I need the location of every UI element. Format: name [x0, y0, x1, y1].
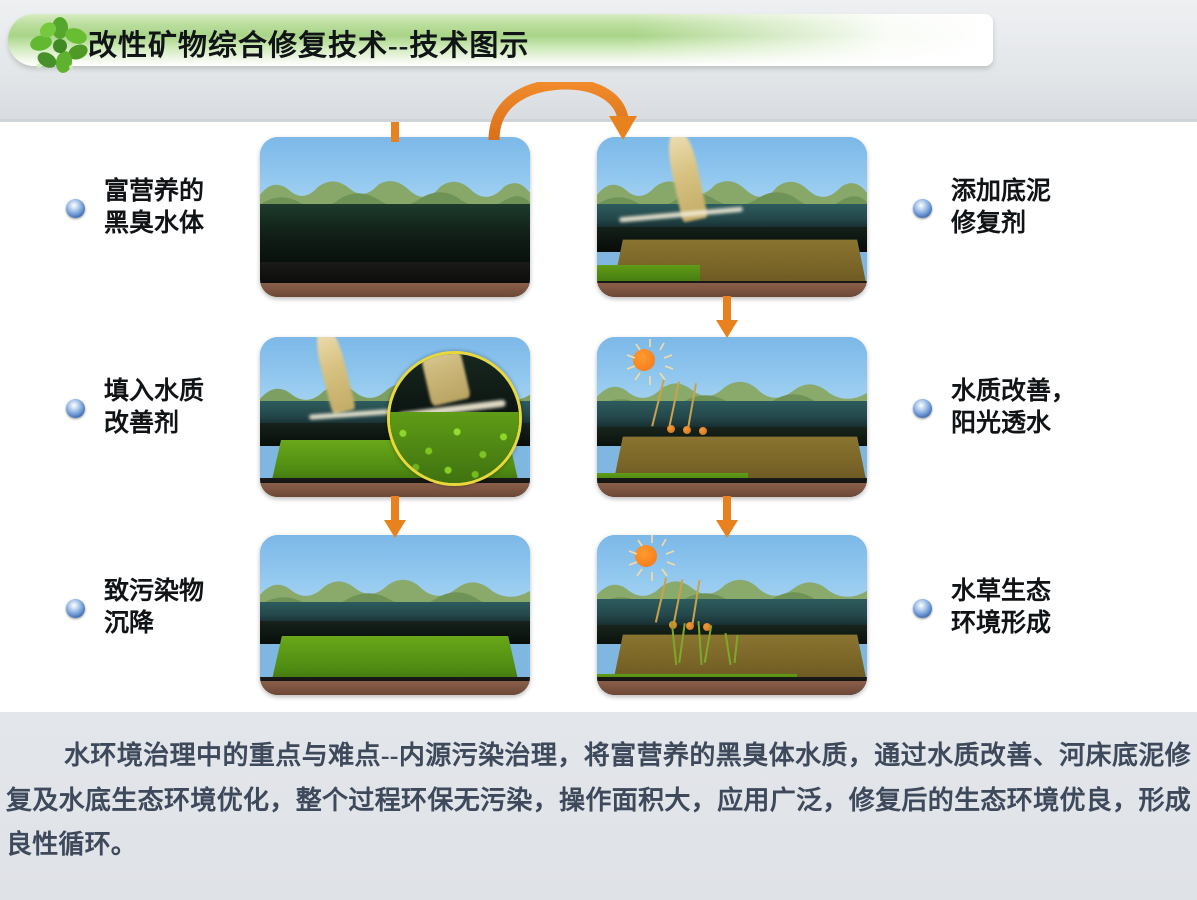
- blue-sphere-bullet-icon: [913, 199, 932, 218]
- sun-rays-icon: [621, 337, 679, 389]
- title-banner-fade: [633, 14, 993, 66]
- arrow-down-icon: [716, 496, 738, 538]
- blue-sphere-bullet-icon: [913, 399, 932, 418]
- dark-water-body: [260, 204, 530, 268]
- clear-water-surface: [597, 599, 867, 628]
- left-label-group-3: 致污染物 沉降: [66, 576, 204, 640]
- blue-sphere-bullet-icon: [66, 199, 85, 218]
- left-label-3-text: 致污染物 沉降: [104, 576, 204, 640]
- arrow-down-icon: [384, 496, 406, 538]
- sun-rays-icon: [623, 535, 681, 585]
- left-label-1-text: 富营养的 黑臭水体: [104, 176, 204, 240]
- clover-leaf-icon: [26, 16, 96, 78]
- curved-arrow-right-icon: [480, 82, 650, 142]
- magnified-granules: [390, 412, 519, 483]
- panel-5-pollutant-settling[interactable]: [260, 535, 530, 695]
- magnifier-circle-icon: [387, 351, 522, 486]
- panel-4-clear-water-sunlight[interactable]: [597, 337, 867, 497]
- arrow-down-icon: [716, 296, 738, 338]
- panel-6-aquatic-ecosystem[interactable]: [597, 535, 867, 695]
- beam-endpoint-icon: [699, 427, 707, 435]
- left-label-group-1: 富营养的 黑臭水体: [66, 176, 204, 240]
- soil-strip: [597, 681, 867, 695]
- panel-2-add-sediment-agent[interactable]: [597, 137, 867, 297]
- right-label-1-text: 添加底泥 修复剂: [951, 176, 1051, 240]
- right-label-group-3: 水草生态 环境形成: [913, 576, 1051, 640]
- page-title: 改性矿物综合修复技术--技术图示: [88, 22, 529, 64]
- left-label-group-2: 填入水质 改善剂: [66, 376, 204, 440]
- blue-sphere-bullet-icon: [66, 599, 85, 618]
- soil-strip: [260, 283, 530, 297]
- clear-water-surface: [597, 401, 867, 430]
- right-label-group-2: 水质改善， 阳光透水: [913, 376, 1076, 440]
- magnified-pour-stream: [416, 351, 470, 407]
- soil-strip: [597, 283, 867, 297]
- right-label-2-text: 水质改善， 阳光透水: [951, 376, 1076, 440]
- soil-strip: [260, 681, 530, 695]
- beam-endpoint-icon: [686, 622, 694, 630]
- panel-3-add-water-improver[interactable]: [260, 337, 530, 497]
- magnifier-content: [390, 354, 519, 483]
- panel-1-eutrophic-water[interactable]: [260, 137, 530, 297]
- right-label-group-1: 添加底泥 修复剂: [913, 176, 1051, 240]
- soil-strip: [597, 483, 867, 497]
- blue-sphere-bullet-icon: [913, 599, 932, 618]
- blue-sphere-bullet-icon: [66, 399, 85, 418]
- right-label-3-text: 水草生态 环境形成: [951, 576, 1051, 640]
- soil-strip: [260, 483, 530, 497]
- footer-caption: 水环境治理中的重点与难点--内源污染治理，将富营养的黑臭体水质，通过水质改善、河…: [0, 734, 1197, 868]
- left-label-2-text: 填入水质 改善剂: [104, 376, 204, 440]
- beam-endpoint-icon: [683, 426, 691, 434]
- beam-endpoint-icon: [667, 425, 675, 433]
- arrow-down-icon: [384, 122, 406, 142]
